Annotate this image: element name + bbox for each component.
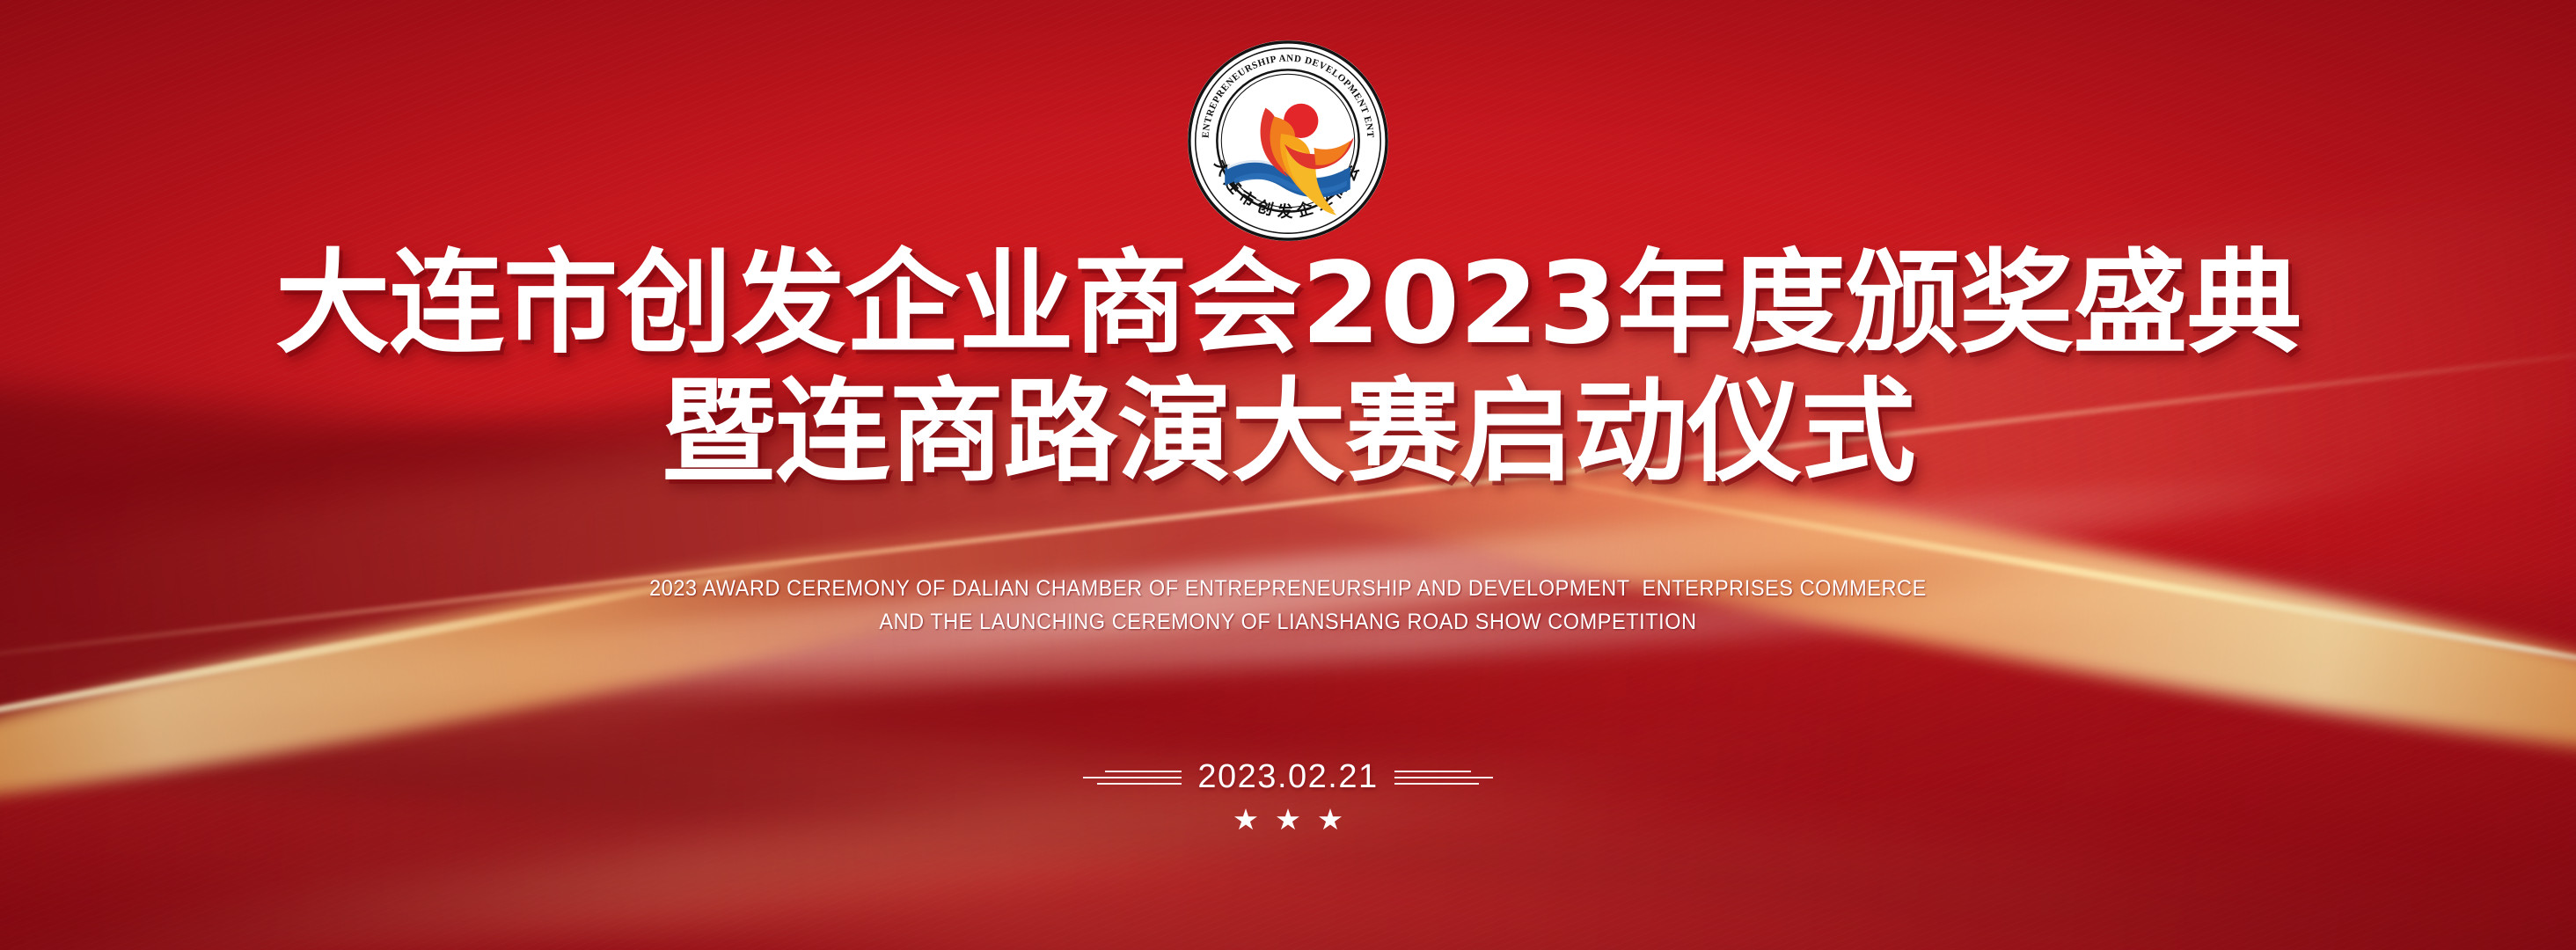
chamber-logo: DALIAN CHAMBER OF ENTREPRENEURSHIP AND D…	[1184, 37, 1392, 245]
event-date: 2023.02.21	[1197, 758, 1378, 796]
headline-line-2: 暨连商路演大赛启动仪式	[0, 376, 2576, 489]
date-rule-left-icon	[1083, 771, 1182, 785]
date-block: 2023.02.21	[0, 758, 2576, 831]
chamber-logo-icon: DALIAN CHAMBER OF ENTREPRENEURSHIP AND D…	[1184, 37, 1392, 245]
subtitle-line-2: AND THE LAUNCHING CEREMONY OF LIANSHANG …	[77, 605, 2499, 639]
star-row	[1234, 808, 1342, 831]
star-icon	[1234, 808, 1257, 831]
subtitle-block: 2023 AWARD CEREMONY OF DALIAN CHAMBER OF…	[0, 572, 2576, 639]
date-row: 2023.02.21	[1083, 758, 1492, 796]
subtitle-line-1: 2023 AWARD CEREMONY OF DALIAN CHAMBER OF…	[77, 572, 2499, 605]
date-rule-right-icon	[1394, 771, 1493, 785]
headline-block: 大连市创发企业商会2023年度颁奖盛典 暨连商路演大赛启动仪式	[0, 248, 2576, 489]
headline-line-1: 大连市创发企业商会2023年度颁奖盛典	[0, 248, 2576, 361]
star-icon	[1277, 808, 1299, 831]
star-icon	[1319, 808, 1342, 831]
event-poster: DALIAN CHAMBER OF ENTREPRENEURSHIP AND D…	[0, 0, 2576, 950]
